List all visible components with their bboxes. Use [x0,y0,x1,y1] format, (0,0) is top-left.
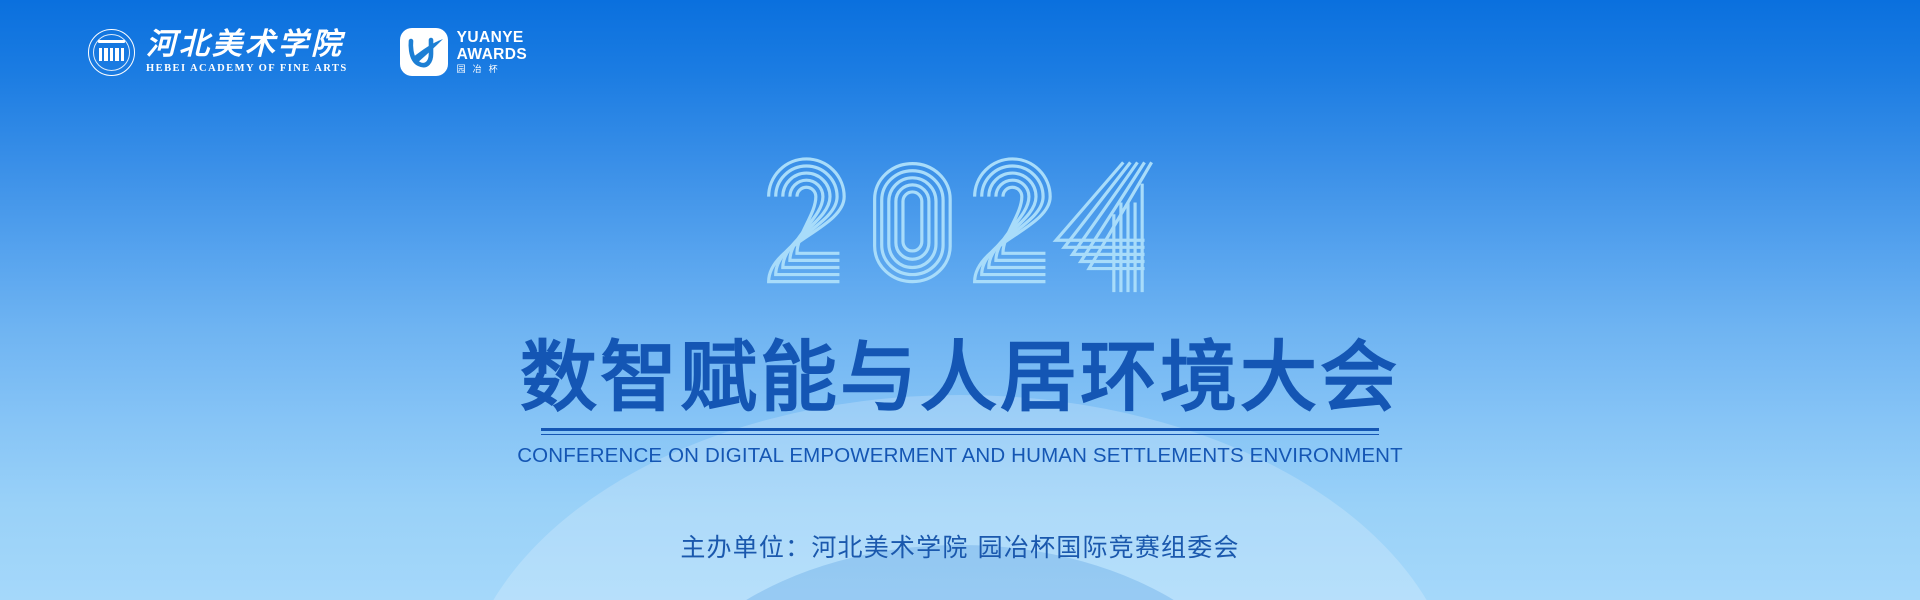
divider-rule-thin [541,434,1379,435]
year-2024-graphic [0,130,1920,300]
yuanye-name-cn: 园冶杯 [457,65,527,74]
yuanye-line2: AWARDS [457,47,527,63]
conference-subtitle-en: CONFERENCE ON DIGITAL EMPOWERMENT AND HU… [517,444,1403,468]
hebei-academy-wordmark: 河北美术学院 HEBEI ACADEMY OF FINE ARTS [146,29,348,75]
conference-banner: 河北美术学院 HEBEI ACADEMY OF FINE ARTS YUANYE… [0,0,1920,600]
logo-row: 河北美术学院 HEBEI ACADEMY OF FINE ARTS YUANYE… [88,28,527,76]
organizer-line: 主办单位：河北美术学院 园冶杯国际竞赛组委会 [0,532,1920,564]
yuanye-awards-logo: YUANYE AWARDS 园冶杯 [400,28,527,76]
hebei-academy-logo: 河北美术学院 HEBEI ACADEMY OF FINE ARTS [88,29,348,76]
yuanye-wordmark: YUANYE AWARDS 园冶杯 [457,30,527,74]
yuanye-line1: YUANYE [457,30,527,46]
yuanye-leaf-mark-icon [400,28,448,76]
conference-title-cn: 数智赋能与人居环境大会 [520,336,1400,422]
seal-gate-shape [99,44,124,61]
hebei-name-en: HEBEI ACADEMY OF FINE ARTS [146,63,348,75]
headline-block: 数智赋能与人居环境大会 CONFERENCE ON DIGITAL EMPOWE… [0,336,1920,468]
title-divider-rules [541,428,1379,435]
hebei-name-cn: 河北美术学院 [146,29,348,61]
divider-rule-thick [541,428,1379,431]
hebei-academy-seal-icon [88,29,135,76]
